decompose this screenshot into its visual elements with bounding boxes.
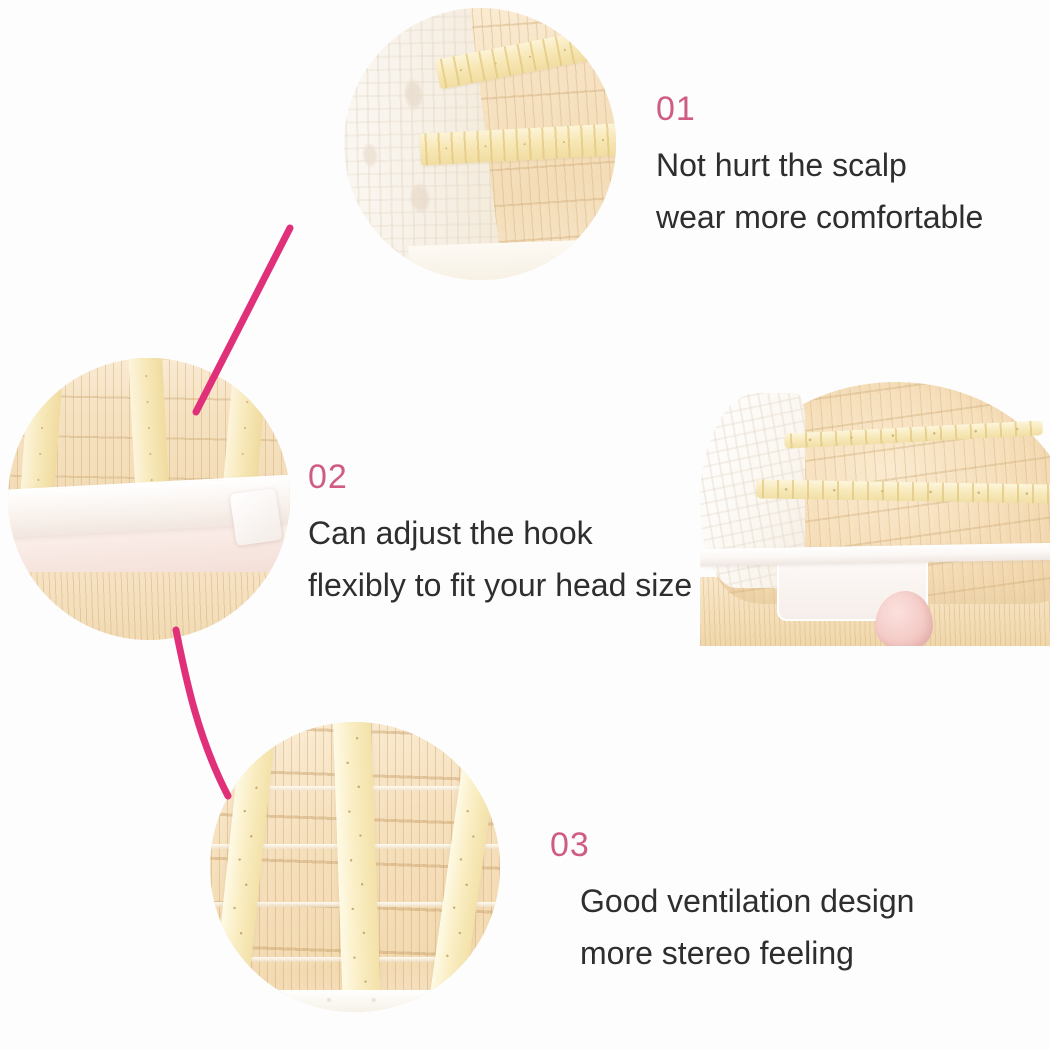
feature-photo-ventilation bbox=[210, 722, 500, 1012]
feature-callout-01: 01 Not hurt the scalp wear more comforta… bbox=[656, 92, 983, 244]
photo-content bbox=[210, 722, 500, 1012]
hero-photo-cap-on-head bbox=[700, 382, 1050, 646]
feature-line: wear more comfortable bbox=[656, 192, 983, 244]
feature-line: flexibly to fit your head size bbox=[308, 560, 692, 612]
feature-text-02: Can adjust the hook flexibly to fit your… bbox=[308, 508, 692, 612]
photo-content bbox=[344, 8, 616, 280]
hair-fringe bbox=[8, 572, 290, 640]
feature-callout-02: 02 Can adjust the hook flexibly to fit y… bbox=[308, 460, 692, 612]
cap-hem-edge bbox=[256, 990, 459, 1012]
feature-number-02: 02 bbox=[308, 460, 692, 494]
cap-hem-edge bbox=[409, 238, 616, 280]
feature-number-03: 03 bbox=[550, 828, 914, 862]
feature-text-01: Not hurt the scalp wear more comfortable bbox=[656, 140, 983, 244]
feature-callout-03: 03 Good ventilation design more stereo f… bbox=[550, 828, 914, 980]
feature-photo-cap-interior bbox=[344, 8, 616, 280]
adjustable-hook bbox=[229, 488, 282, 546]
feature-photo-adjust-hook bbox=[8, 358, 290, 640]
feature-line: Not hurt the scalp bbox=[656, 140, 983, 192]
photo-content bbox=[8, 358, 290, 640]
feature-line: Can adjust the hook bbox=[308, 508, 692, 560]
infographic-canvas: 01 Not hurt the scalp wear more comforta… bbox=[0, 0, 1050, 1050]
photo-content bbox=[700, 382, 1050, 646]
feature-number-01: 01 bbox=[656, 92, 983, 126]
feature-line: more stereo feeling bbox=[580, 928, 914, 980]
feature-text-03: Good ventilation design more stereo feel… bbox=[580, 876, 914, 980]
feature-line: Good ventilation design bbox=[580, 876, 914, 928]
